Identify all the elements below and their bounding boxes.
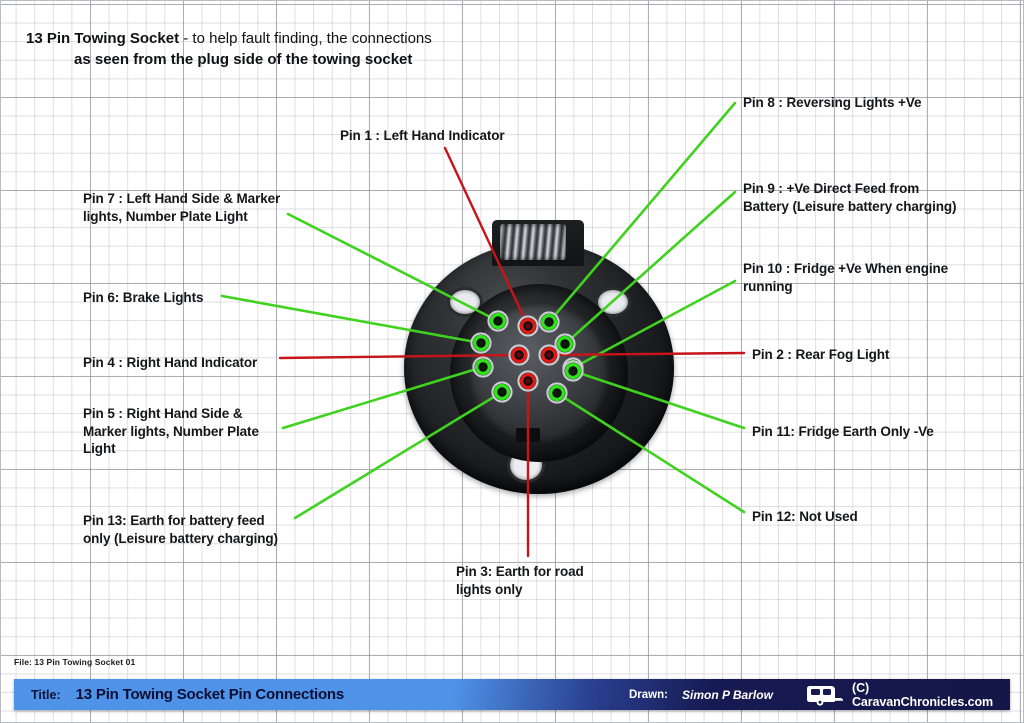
diagram-page: 13 Pin Towing Socket - to help fault fin… — [0, 0, 1024, 723]
pin-label-11: Pin 11: Fridge Earth Only -Ve — [752, 423, 982, 441]
pin-contact-13 — [493, 383, 512, 402]
pin-label-10: Pin 10 : Fridge +Ve When engine running — [743, 260, 993, 295]
leader-line-pin-9 — [565, 192, 735, 344]
pin-label-12: Pin 12: Not Used — [752, 508, 952, 526]
drawn-label: Drawn: — [629, 689, 668, 701]
pin-contact-6 — [472, 334, 491, 353]
pin-label-7: Pin 7 : Left Hand Side & Marker lights, … — [83, 190, 323, 225]
pin-label-1: Pin 1 : Left Hand Indicator — [340, 127, 540, 145]
title-value: 13 Pin Towing Socket Pin Connections — [76, 686, 344, 703]
leader-line-pin-5 — [283, 367, 483, 428]
pin-label-4: Pin 4 : Right Hand Indicator — [83, 354, 293, 372]
caravan-icon — [805, 684, 845, 711]
leader-line-pin-12 — [557, 393, 744, 512]
pin-contact-3 — [519, 372, 538, 391]
drawn-author-name: Simon P Barlow — [682, 688, 773, 702]
pin-label-13: Pin 13: Earth for battery feed only (Lei… — [83, 512, 333, 547]
leader-line-pin-2 — [549, 353, 744, 355]
file-note: File: 13 Pin Towing Socket 01 — [14, 657, 135, 667]
title-block-bar: Title: 13 Pin Towing Socket Pin Connecti… — [14, 679, 1010, 710]
pin-label-5: Pin 5 : Right Hand Side & Marker lights,… — [83, 405, 298, 458]
pin-contact-1 — [519, 317, 538, 336]
pin-contact-7 — [489, 312, 508, 331]
pin-label-3: Pin 3: Earth for road lights only — [456, 563, 656, 598]
copyright-text: (C) CaravanChronicles.com — [852, 681, 1010, 709]
pin-label-8: Pin 8 : Reversing Lights +Ve — [743, 94, 983, 112]
pin-contact-8 — [540, 313, 559, 332]
pin-label-2: Pin 2 : Rear Fog Light — [752, 346, 952, 364]
leader-line-pin-7 — [288, 214, 498, 321]
pin-contact-5 — [474, 358, 493, 377]
pin-label-6: Pin 6: Brake Lights — [83, 289, 283, 307]
pin-contact-2 — [540, 346, 559, 365]
leader-line-pin-13 — [295, 392, 502, 518]
pin-label-9: Pin 9 : +Ve Direct Feed from Battery (Le… — [743, 180, 993, 215]
leader-line-pin-8 — [549, 103, 735, 322]
pin-contact-4 — [510, 346, 529, 365]
pin-contact-12 — [548, 384, 567, 403]
pin-contact-11 — [564, 362, 583, 381]
title-label: Title: — [31, 688, 61, 702]
